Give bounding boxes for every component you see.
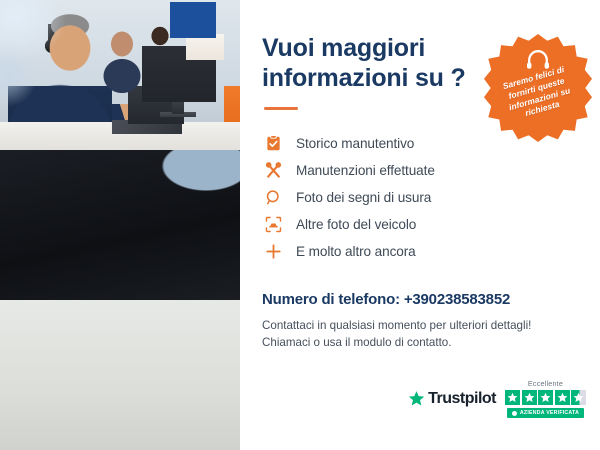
photo-call-center: Operatore con cuffie al telefono in call… [0,0,240,150]
page-title: Vuoi maggiori informazioni su ? [262,34,467,93]
star-4 [555,390,570,405]
feature-label: Manutenzioni effettuate [296,163,435,178]
feature-item-foto-usura: Foto dei segni di usura [264,184,578,211]
star-2 [522,390,537,405]
verified-check-icon [512,411,517,416]
trustpilot-stars [505,390,586,405]
callout-badge-text: Saremo felici di fornirti queste informa… [492,61,585,125]
photo-garage-tyre: Meccanico che controlla lo pneumatico di… [0,300,240,450]
magnifier-icon [264,189,282,207]
trustpilot-widget[interactable]: Trustpilot Eccellente AZIENDA VERIFICATA [408,379,586,418]
title-divider [264,107,298,110]
feature-item-manutenzioni: Manutenzioni effettuate [264,157,578,184]
feature-list: Storico manutentivo Manutenzioni effettu… [264,130,578,265]
feature-item-altre-foto: Altre foto del veicolo [264,211,578,238]
feature-label: Storico manutentivo [296,136,414,151]
star-3 [538,390,553,405]
phone-number[interactable]: Numero di telefono: +390238583852 [262,291,578,308]
feature-label: E molto altro ancora [296,244,416,259]
trustpilot-logo: Trustpilot [408,390,496,408]
trustpilot-name: Trustpilot [428,390,496,408]
photo-car-inspection: Mano che misura la carrozzeria con table… [0,150,240,300]
contact-line-1: Contattaci in qualsiasi momento per ulte… [262,317,578,334]
verified-label: AZIENDA VERIFICATA [520,410,579,416]
star-1 [505,390,520,405]
photo-column: Operatore con cuffie al telefono in call… [0,0,240,450]
contact-line-2: Chiamaci o usa il modulo di contatto. [262,334,578,351]
tools-cross-icon [264,162,282,180]
feature-label: Altre foto del veicolo [296,217,416,232]
verified-business-badge: AZIENDA VERIFICATA [507,408,584,418]
plus-icon [264,243,282,261]
callout-badge-inner: Saremo felici di fornirti queste informa… [484,34,592,142]
feature-label: Foto dei segni di usura [296,190,431,205]
callout-badge: Saremo felici di fornirti queste informa… [484,34,592,142]
trustpilot-rating: Eccellente AZIENDA VERIFICATA [505,379,586,418]
content-panel: Vuoi maggiori informazioni su ? Saremo f… [240,0,600,450]
clipboard-check-icon [264,135,282,153]
contact-instructions: Contattaci in qualsiasi momento per ulte… [262,317,578,352]
star-5-partial [571,390,586,405]
car-scan-icon [264,216,282,234]
trustpilot-rating-word: Eccellente [528,379,563,388]
headset-icon [526,50,550,70]
trustpilot-star-icon [408,390,425,407]
promo-banner: Operatore con cuffie al telefono in call… [0,0,600,450]
feature-item-altro: E molto altro ancora [264,238,578,265]
